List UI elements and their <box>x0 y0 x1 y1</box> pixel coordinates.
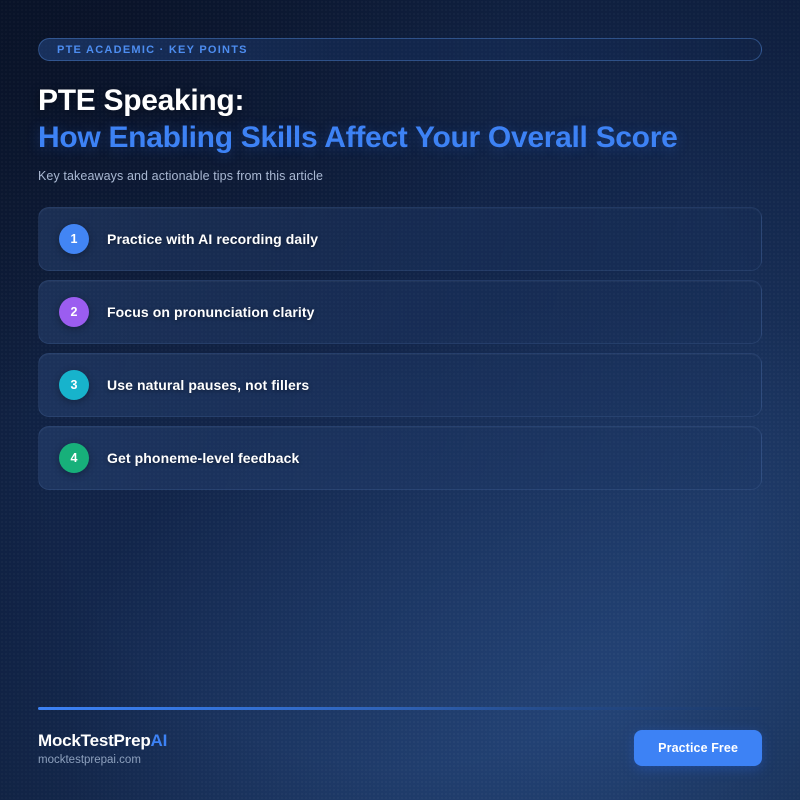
poster-canvas: PTE ACADEMIC · KEY POINTS PTE Speaking: … <box>0 0 800 800</box>
key-point-item-1: 1 Practice with AI recording daily <box>38 207 762 271</box>
key-point-item-3: 3 Use natural pauses, not fillers <box>38 353 762 417</box>
title-block: PTE Speaking: How Enabling Skills Affect… <box>38 83 762 183</box>
page-title-line-2: How Enabling Skills Affect Your Overall … <box>38 120 762 157</box>
key-point-badge-3: 3 <box>59 370 89 400</box>
key-point-label-2: Focus on pronunciation clarity <box>107 304 315 320</box>
page-title-line-1: PTE Speaking: <box>38 83 762 120</box>
page-subtitle: Key takeaways and actionable tips from t… <box>38 169 762 183</box>
key-points-list: 1 Practice with AI recording daily 2 Foc… <box>38 207 762 490</box>
key-point-item-4: 4 Get phoneme-level feedback <box>38 426 762 490</box>
key-point-badge-4: 4 <box>59 443 89 473</box>
key-point-number-1: 1 <box>71 232 78 246</box>
key-point-number-4: 4 <box>71 451 78 465</box>
key-point-number-3: 3 <box>71 378 78 392</box>
key-point-label-3: Use natural pauses, not fillers <box>107 377 309 393</box>
key-point-label-1: Practice with AI recording daily <box>107 231 318 247</box>
key-point-item-2: 2 Focus on pronunciation clarity <box>38 280 762 344</box>
key-point-number-2: 2 <box>71 305 78 319</box>
key-point-badge-1: 1 <box>59 224 89 254</box>
key-point-label-4: Get phoneme-level feedback <box>107 450 299 466</box>
poster-content: PTE ACADEMIC · KEY POINTS PTE Speaking: … <box>0 0 800 800</box>
eyebrow-pill: PTE ACADEMIC · KEY POINTS <box>38 38 762 61</box>
key-point-badge-2: 2 <box>59 297 89 327</box>
eyebrow-label: PTE ACADEMIC · KEY POINTS <box>57 44 248 56</box>
